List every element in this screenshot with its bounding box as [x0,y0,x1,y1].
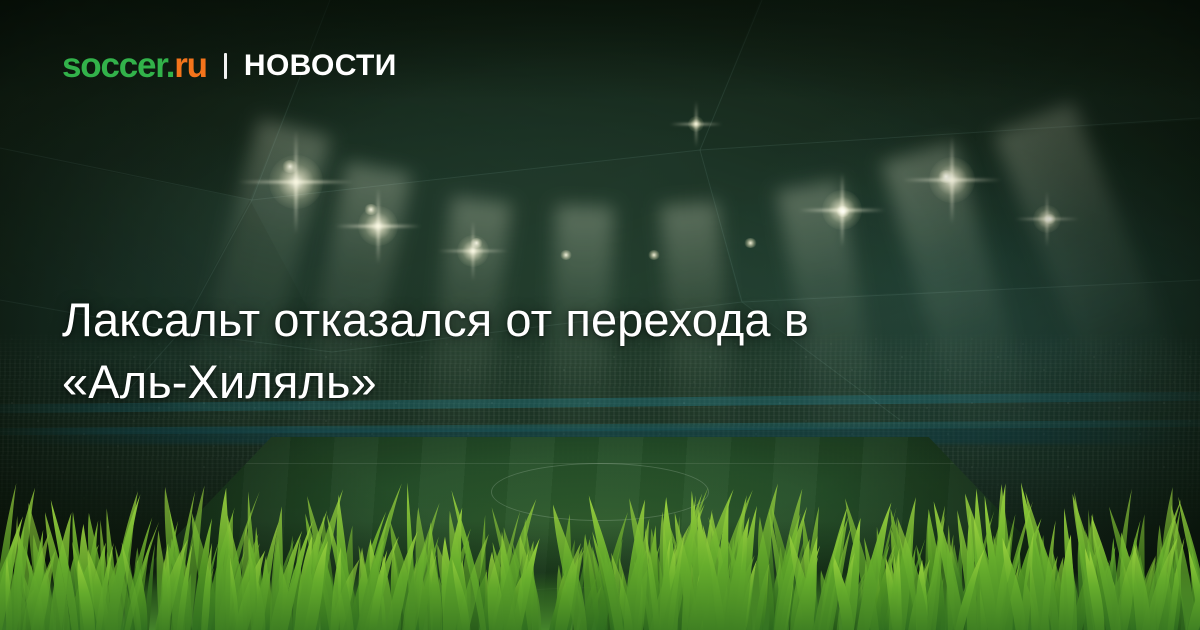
logo-dot: . [166,46,175,85]
grass-blades [0,440,1200,630]
headline-line-1: Лаксальт отказался от перехода в [62,289,1072,350]
logo-brand: soccer [62,46,166,85]
header-divider [224,53,227,79]
site-header: soccer.ru НОВОСТИ [62,48,397,83]
headline-line-2: «Аль-Хиляль» [62,351,1072,412]
logo-tld: ru [174,46,207,85]
section-label-news[interactable]: НОВОСТИ [244,51,397,81]
soccer-ru-logo[interactable]: soccer.ru [62,48,207,83]
news-card: soccer.ru НОВОСТИ Лаксальт отказался от … [0,0,1200,630]
foreground-grass [0,440,1200,630]
headline: Лаксальт отказался от перехода в «Аль-Хи… [62,289,1072,411]
